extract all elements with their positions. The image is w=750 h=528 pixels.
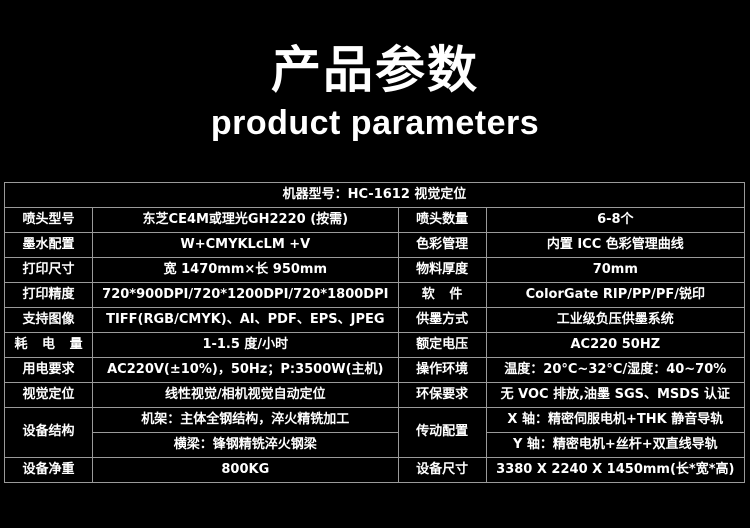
table-row: 打印精度 720*900DPI/720*1200DPI/720*1800DPI … xyxy=(5,283,745,308)
label-power-consumption: 耗 电 量 xyxy=(5,333,93,358)
table-row: 打印尺寸 宽 1470mm×长 950mm 物料厚度 70mm xyxy=(5,258,745,283)
table-row-structure-second: 横梁：锋钢精铣淬火钢梁 Y 轴：精密电机+丝杆+双直线导轨 xyxy=(5,433,745,458)
value-supported-images: TIFF(RGB/CMYK)、AI、PDF、EPS、JPEG xyxy=(93,308,398,333)
machine-model-header: 机器型号：HC-1612 视觉定位 xyxy=(5,183,745,208)
label-rated-voltage: 额定电压 xyxy=(398,333,486,358)
value-equipment-structure-beam: 横梁：锋钢精铣淬火钢梁 xyxy=(93,433,398,458)
table-row: 用电要求 AC220V(±10%)，50Hz；P:3500W(主机) 操作环境 … xyxy=(5,358,745,383)
page-banner: 产品参数 product parameters xyxy=(0,0,750,168)
product-parameters-table: 机器型号：HC-1612 视觉定位 喷头型号 东芝CE4M或理光GH2220 (… xyxy=(4,182,745,483)
value-print-precision: 720*900DPI/720*1200DPI/720*1800DPI xyxy=(93,283,398,308)
label-printhead-model: 喷头型号 xyxy=(5,208,93,233)
label-printhead-count: 喷头数量 xyxy=(398,208,486,233)
label-print-precision: 打印精度 xyxy=(5,283,93,308)
value-color-management: 内置 ICC 色彩管理曲线 xyxy=(486,233,744,258)
label-ink-configuration: 墨水配置 xyxy=(5,233,93,258)
label-print-size: 打印尺寸 xyxy=(5,258,93,283)
table-row: 设备净重 800KG 设备尺寸 3380 X 2240 X 1450mm(长*宽… xyxy=(5,458,745,483)
table-row-model-header: 机器型号：HC-1612 视觉定位 xyxy=(5,183,745,208)
value-software: ColorGate RIP/PP/PF/锐印 xyxy=(486,283,744,308)
footer-spacer xyxy=(0,483,750,521)
label-color-management: 色彩管理 xyxy=(398,233,486,258)
value-material-thickness: 70mm xyxy=(486,258,744,283)
label-material-thickness: 物料厚度 xyxy=(398,258,486,283)
value-transmission-y-axis: Y 轴：精密电机+丝杆+双直线导轨 xyxy=(486,433,744,458)
value-environmental-requirement: 无 VOC 排放,油墨 SGS、MSDS 认证 xyxy=(486,383,744,408)
value-equipment-dimensions: 3380 X 2240 X 1450mm(长*宽*高) xyxy=(486,458,744,483)
value-print-size: 宽 1470mm×长 950mm xyxy=(93,258,398,283)
table-row: 耗 电 量 1-1.5 度/小时 额定电压 AC220 50HZ xyxy=(5,333,745,358)
value-rated-voltage: AC220 50HZ xyxy=(486,333,744,358)
label-supported-images: 支持图像 xyxy=(5,308,93,333)
label-ink-supply-mode: 供墨方式 xyxy=(398,308,486,333)
label-net-weight: 设备净重 xyxy=(5,458,93,483)
value-equipment-structure-frame: 机架：主体全钢结构，淬火精铣加工 xyxy=(93,408,398,433)
page-title-en: product parameters xyxy=(211,105,539,142)
table-row: 墨水配置 W+CMYKLcLM +V 色彩管理 内置 ICC 色彩管理曲线 xyxy=(5,233,745,258)
value-power-requirement: AC220V(±10%)，50Hz；P:3500W(主机) xyxy=(93,358,398,383)
label-visual-positioning: 视觉定位 xyxy=(5,383,93,408)
label-transmission-configuration: 传动配置 xyxy=(398,408,486,458)
table-row: 视觉定位 线性视觉/相机视觉自动定位 环保要求 无 VOC 排放,油墨 SGS、… xyxy=(5,383,745,408)
value-visual-positioning: 线性视觉/相机视觉自动定位 xyxy=(93,383,398,408)
value-operating-environment: 温度：20°C~32°C/湿度：40~70% xyxy=(486,358,744,383)
value-printhead-model: 东芝CE4M或理光GH2220 (按需) xyxy=(93,208,398,233)
value-power-consumption: 1-1.5 度/小时 xyxy=(93,333,398,358)
label-equipment-structure: 设备结构 xyxy=(5,408,93,458)
table-row: 支持图像 TIFF(RGB/CMYK)、AI、PDF、EPS、JPEG 供墨方式… xyxy=(5,308,745,333)
page-title-cn: 产品参数 xyxy=(271,44,479,97)
value-printhead-count: 6-8个 xyxy=(486,208,744,233)
value-net-weight: 800KG xyxy=(93,458,398,483)
spec-table-wrapper: 机器型号：HC-1612 视觉定位 喷头型号 东芝CE4M或理光GH2220 (… xyxy=(0,168,750,483)
label-software: 软 件 xyxy=(398,283,486,308)
value-transmission-x-axis: X 轴：精密伺服电机+THK 静音导轨 xyxy=(486,408,744,433)
table-row: 喷头型号 东芝CE4M或理光GH2220 (按需) 喷头数量 6-8个 xyxy=(5,208,745,233)
label-environmental-requirement: 环保要求 xyxy=(398,383,486,408)
table-row-structure-first: 设备结构 机架：主体全钢结构，淬火精铣加工 传动配置 X 轴：精密伺服电机+TH… xyxy=(5,408,745,433)
value-ink-configuration: W+CMYKLcLM +V xyxy=(93,233,398,258)
label-power-requirement: 用电要求 xyxy=(5,358,93,383)
value-ink-supply-mode: 工业级负压供墨系统 xyxy=(486,308,744,333)
label-equipment-dimensions: 设备尺寸 xyxy=(398,458,486,483)
label-operating-environment: 操作环境 xyxy=(398,358,486,383)
